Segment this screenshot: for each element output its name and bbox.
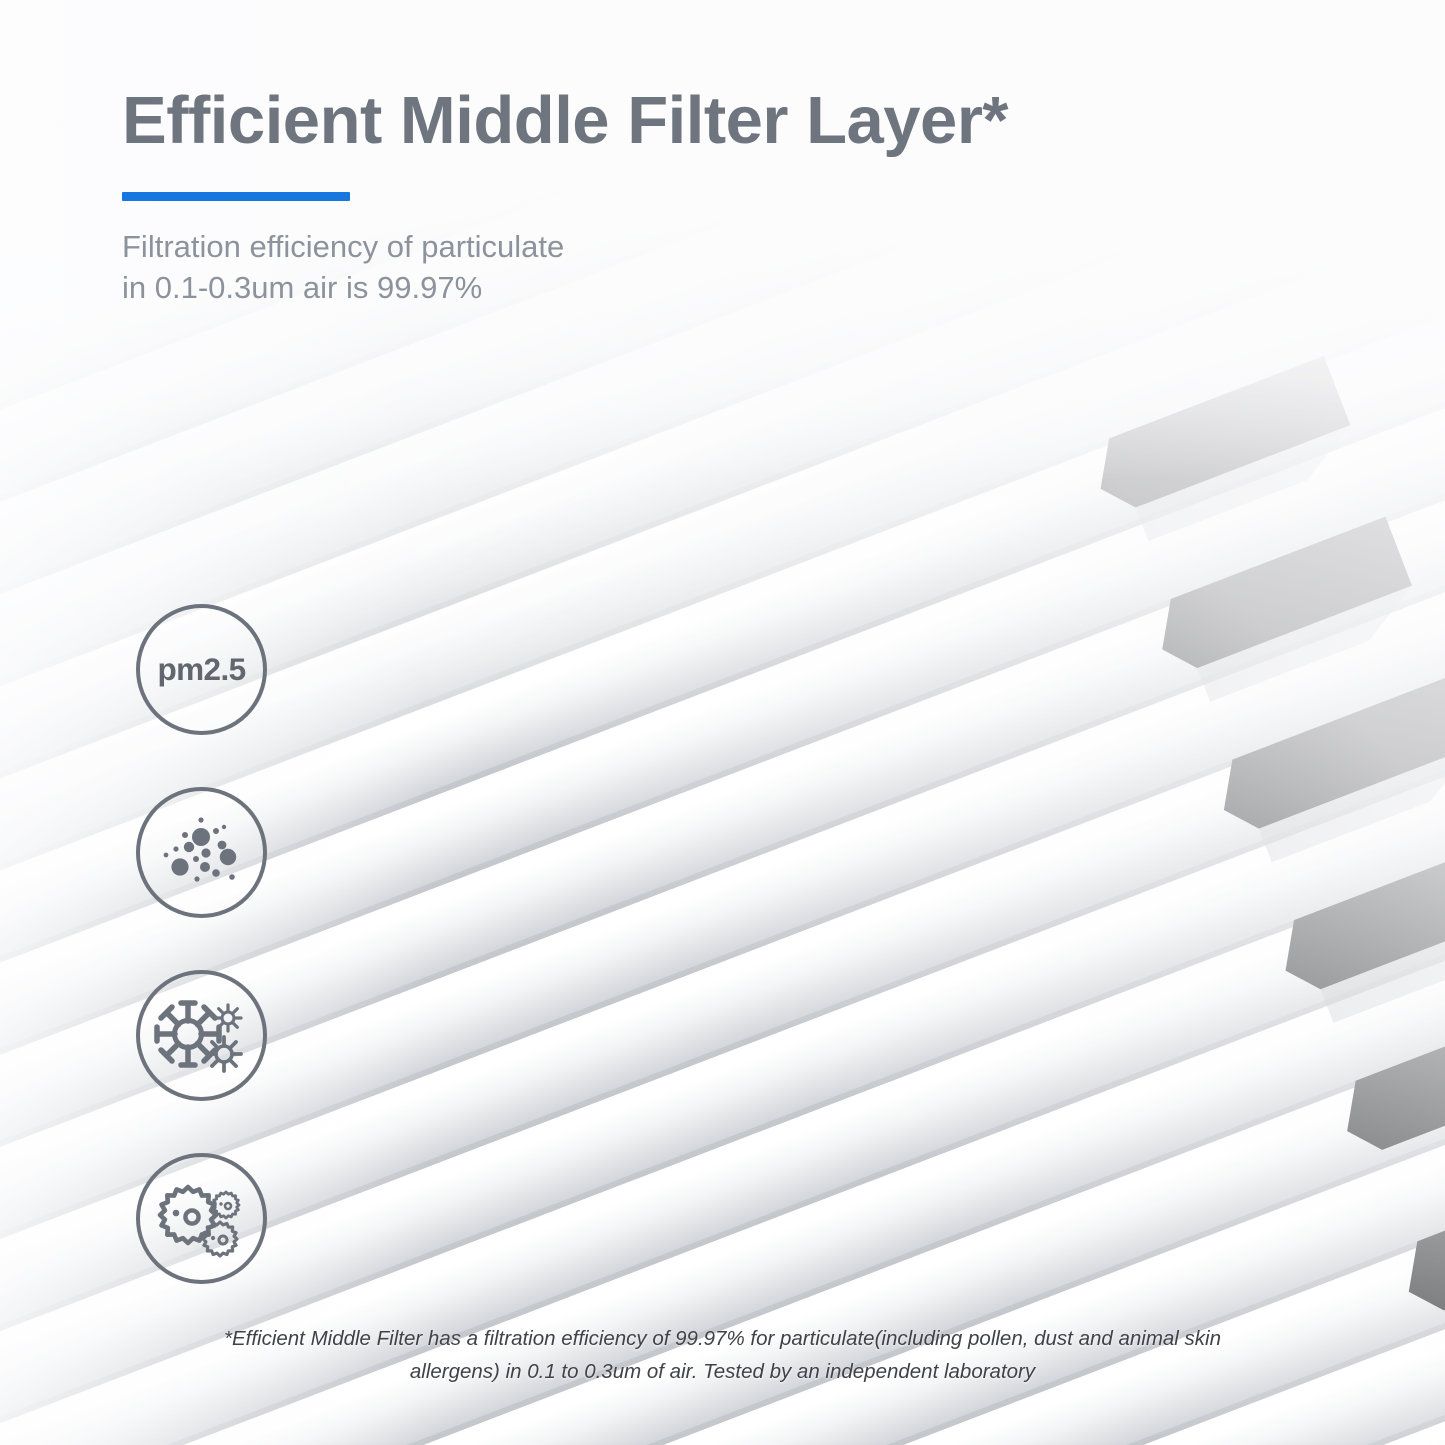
feature-badge-virus [136,970,267,1101]
header-block: Efficient Middle Filter Layer* Filtratio… [122,86,1272,308]
feature-badge-dust [136,787,267,918]
accent-bar [122,192,350,201]
dust-particles-icon [156,807,248,899]
product-feature-image: Efficient Middle Filter Layer* Filtratio… [0,0,1445,1445]
pm25-icon: pm2.5 [157,654,245,686]
footnote-text: *Efficient Middle Filter has a filtratio… [133,1322,1313,1388]
page-subtitle: Filtration efficiency of particulate in … [122,227,1272,309]
page-title: Efficient Middle Filter Layer* [122,86,1272,156]
virus-bacteria-icon [154,988,250,1084]
feature-icon-list: pm2.5 [136,604,267,1284]
feature-badge-pm25: pm2.5 [136,604,267,735]
feature-badge-pollen [136,1153,267,1284]
pollen-allergen-icon [154,1171,250,1267]
